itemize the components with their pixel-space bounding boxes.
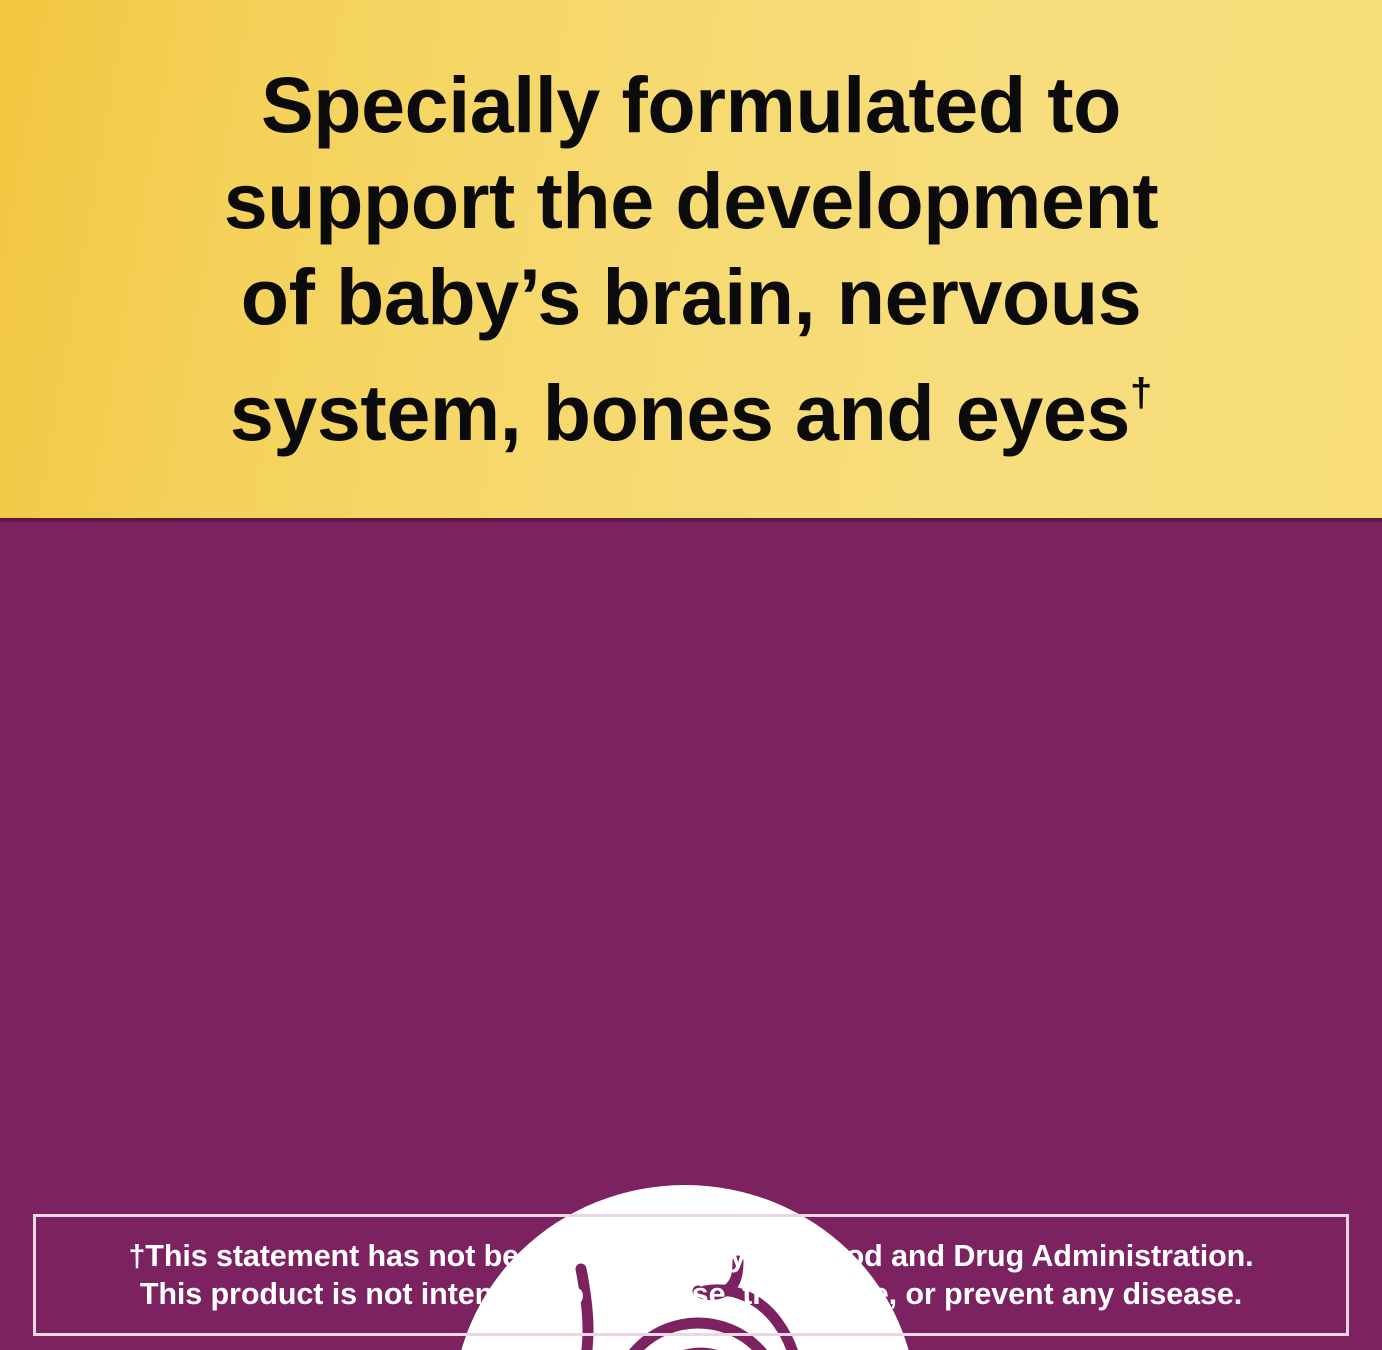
disclaimer-text: †This statement has not been evaluated b… [120,1237,1261,1313]
disclaimer-box: †This statement has not been evaluated b… [33,1214,1349,1336]
page-title: Specially formulated to support the deve… [0,57,1382,461]
headline-text: Specially formulated to support the deve… [224,60,1158,457]
headline-band: Specially formulated to support the deve… [0,0,1382,522]
footnote-dagger-marker: † [1130,371,1152,415]
product-feature-panel: Specially formulated to support the deve… [0,0,1382,1350]
